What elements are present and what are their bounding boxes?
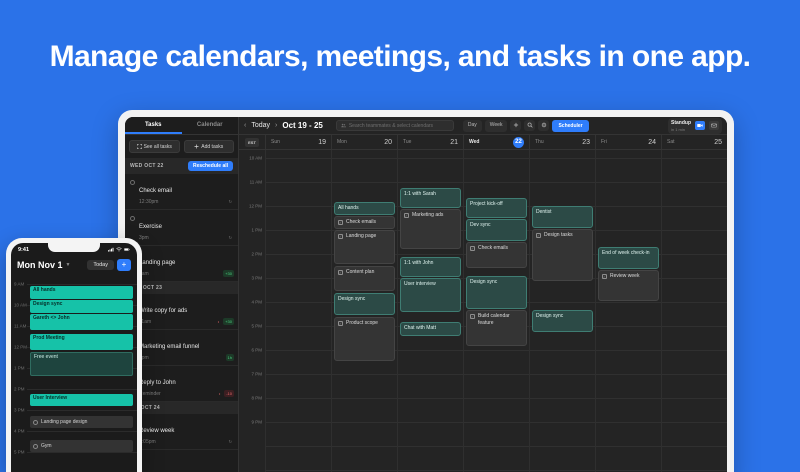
day-name: Tue xyxy=(403,139,411,145)
chevron-down-icon[interactable]: ▼ xyxy=(66,262,71,268)
phone-event[interactable]: Free event xyxy=(30,352,133,376)
status-badge: ↻ xyxy=(227,198,234,205)
phone-header: Mon Nov 1 ▼ Today + xyxy=(11,256,137,276)
event-title: End of week check-in xyxy=(602,250,650,256)
phone-today-button[interactable]: Today xyxy=(87,260,114,270)
day-columns[interactable]: All hands✓Check emails✓Landing page✓Cont… xyxy=(265,150,727,472)
event-checkbox[interactable]: ✓ xyxy=(338,234,343,239)
task-badges: •-10 xyxy=(217,390,234,397)
task-badges: ↻ xyxy=(227,198,234,205)
phone-grid-line xyxy=(27,284,137,285)
time-label: 5 PM xyxy=(251,324,262,329)
calendar-toolbar: ‹ Today › Oct 19 - 25 Search teammates &… xyxy=(239,117,727,135)
task-badges: ↻ xyxy=(227,234,234,241)
event-checkbox[interactable]: ✓ xyxy=(536,233,541,238)
event-title: Design tasks xyxy=(544,232,573,239)
sidebar-tabs: Tasks Calendar xyxy=(125,117,238,135)
event-title: Review week xyxy=(610,273,639,280)
add-tasks-button[interactable]: Add tasks xyxy=(184,140,235,153)
event-title: Content plan xyxy=(346,269,374,276)
time-label: 12 PM xyxy=(249,204,262,209)
event-title: Dev sync xyxy=(470,222,491,228)
day-name: Mon xyxy=(337,139,347,145)
task-title: Marketing email funnel xyxy=(139,344,199,350)
calendar-task[interactable]: ✓Design tasks xyxy=(532,229,593,281)
day-number: 20 xyxy=(384,139,392,146)
status-badge: +30 xyxy=(223,270,234,277)
event-title: Chat with Matt xyxy=(404,325,436,331)
calendar-event[interactable]: Dentist xyxy=(532,206,593,228)
event-checkbox[interactable]: ✓ xyxy=(338,321,343,326)
time-label: 9 PM xyxy=(251,420,262,425)
time-label: 6 PM xyxy=(251,348,262,353)
task-row[interactable]: Check email12:30pm↻ xyxy=(125,174,238,210)
expand-icon xyxy=(137,144,142,149)
status-time: 9:41 xyxy=(18,247,29,253)
time-label: 7 PM xyxy=(251,372,262,377)
phone-event[interactable]: Gareth <> John xyxy=(30,314,133,330)
scheduler-button[interactable]: Scheduler xyxy=(552,120,588,132)
event-title: 1:1 with John xyxy=(404,260,433,266)
phone-event-title: Gareth <> John xyxy=(33,315,70,321)
time-axis: 10 AM11 AM12 PM1 PM2 PM3 PM4 PM5 PM6 PM7… xyxy=(239,150,265,472)
mail-icon xyxy=(711,123,717,128)
event-title: Dentist xyxy=(536,209,552,215)
phone-event-title: Landing page design xyxy=(41,419,87,426)
phone-event-title: User Interview xyxy=(33,395,67,401)
phone-time-label: 3 PM xyxy=(14,408,25,413)
task-title: Review week xyxy=(139,428,174,434)
timezone-cell: EST xyxy=(239,135,265,149)
phone-grid-line xyxy=(27,410,137,411)
day-header-tue[interactable]: Tue21 xyxy=(397,135,463,149)
day-number: 22 xyxy=(513,137,524,148)
standup-title: Standup xyxy=(671,120,691,126)
day-name: Thu xyxy=(535,139,544,145)
phone-task-checkbox[interactable] xyxy=(33,444,38,449)
tab-calendar[interactable]: Calendar xyxy=(182,117,239,134)
calendar-task[interactable]: ✓Product scope xyxy=(334,317,395,361)
task-badges: 1h xyxy=(226,354,234,361)
phone-time-label: 11 AM xyxy=(14,324,26,329)
view-day-button[interactable]: Day xyxy=(463,120,482,132)
task-body: Exercise3pm xyxy=(139,215,233,241)
status-icons xyxy=(108,247,130,252)
time-label: 11 AM xyxy=(250,180,262,185)
event-title: Check emails xyxy=(346,219,376,226)
join-video-button[interactable] xyxy=(695,121,705,130)
day-column[interactable]: Dentist✓Design tasksDesign sync xyxy=(529,150,595,472)
phone-event-title: Free event xyxy=(34,354,58,360)
phone-time-label: 4 PM xyxy=(14,429,25,434)
task-body: Review week1:05pm xyxy=(139,419,233,445)
phone-event[interactable]: All hands xyxy=(30,286,133,299)
task-action-row: See all tasks Add tasks xyxy=(125,135,238,158)
event-checkbox[interactable]: ✓ xyxy=(338,270,343,275)
next-week-button[interactable]: › xyxy=(275,122,277,129)
time-label: 4 PM xyxy=(251,300,262,305)
status-badge: 1h xyxy=(226,354,234,361)
standup-meeting-card[interactable]: Standup in 1 min xyxy=(668,118,722,134)
day-header-thu[interactable]: Thu23 xyxy=(529,135,595,149)
phone-time-label: 1 PM xyxy=(14,366,25,371)
event-title: Project kick-off xyxy=(470,201,503,207)
phone-time-label: 10 AM xyxy=(14,303,27,308)
day-column[interactable]: Project kick-offDev sync✓Check emailsDes… xyxy=(463,150,529,472)
task-group-header: WED OCT 22Reschedule all xyxy=(125,158,238,174)
calendar-task[interactable]: ✓Build calendar feature xyxy=(466,310,527,346)
phone-task-checkbox[interactable] xyxy=(33,420,38,425)
task-body: Marketing email funnel2pm xyxy=(139,335,233,361)
phone-add-button[interactable]: + xyxy=(117,259,131,271)
calendar-event[interactable]: Design sync xyxy=(466,276,527,309)
calendar-event[interactable]: Design sync xyxy=(334,293,395,315)
phone-grid-line xyxy=(27,452,137,453)
event-checkbox[interactable]: ✓ xyxy=(602,274,607,279)
day-header-wed[interactable]: Wed22 xyxy=(463,135,529,149)
day-number: 23 xyxy=(582,139,590,146)
task-badges: +30 xyxy=(223,270,234,277)
day-column[interactable] xyxy=(265,150,331,472)
event-title: Build calendar feature xyxy=(478,313,523,327)
add-tasks-label: Add tasks xyxy=(201,144,223,150)
day-number: 24 xyxy=(648,139,656,146)
tablet-screen: Tasks Calendar See all tasks Add tasks xyxy=(125,117,727,472)
calendar-panel: ‹ Today › Oct 19 - 25 Search teammates &… xyxy=(239,117,727,472)
event-title: Landing page xyxy=(346,233,376,240)
calendar-event[interactable]: Chat with Matt xyxy=(400,322,461,336)
gear-icon xyxy=(541,122,547,128)
day-name: Fri xyxy=(601,139,607,145)
time-label: 2 PM xyxy=(251,252,262,257)
calendar-event[interactable]: User interview xyxy=(400,278,461,312)
time-label: 8 PM xyxy=(251,396,262,401)
status-badge: -10 xyxy=(224,390,234,397)
task-title: Write copy for ads xyxy=(139,308,187,314)
calendar-grid[interactable]: 10 AM11 AM12 PM1 PM2 PM3 PM4 PM5 PM6 PM7… xyxy=(239,150,727,472)
task-title: Reply to John xyxy=(139,380,176,386)
phone-event[interactable]: Design sync xyxy=(30,300,133,313)
plus-icon xyxy=(513,122,519,128)
task-body: Check email12:30pm xyxy=(139,179,233,205)
phone-time-label: 2 PM xyxy=(14,387,25,392)
phone-event-title: Prod Meeting xyxy=(33,335,65,341)
phone-time-label: 9 AM xyxy=(14,282,24,287)
search-placeholder: Search teammates & select calendars xyxy=(349,123,433,129)
search-input[interactable]: Search teammates & select calendars xyxy=(336,120,454,131)
calendar-event[interactable]: Project kick-off xyxy=(466,198,527,218)
task-title: Landing page xyxy=(139,260,175,266)
see-all-tasks-button[interactable]: See all tasks xyxy=(129,140,180,153)
day-column[interactable]: End of week check-in✓Review week xyxy=(595,150,661,472)
timezone-label[interactable]: EST xyxy=(245,138,259,147)
phone-notch xyxy=(48,243,100,252)
status-badge: • xyxy=(216,318,221,325)
calendar-day-headers: ESTSun19Mon20Tue21Wed22Thu23Fri24Sat25 xyxy=(239,135,727,150)
phone-event-title: Gym xyxy=(41,443,52,450)
event-title: All hands xyxy=(338,205,359,211)
phone-date-label[interactable]: Mon Nov 1 xyxy=(17,260,63,270)
standup-subtitle: in 1 min xyxy=(671,127,691,132)
settings-button[interactable] xyxy=(538,120,549,131)
event-checkbox[interactable]: ✓ xyxy=(470,314,475,319)
phone-event[interactable]: User Interview xyxy=(30,394,133,406)
day-number: 25 xyxy=(714,139,722,146)
see-all-tasks-label: See all tasks xyxy=(144,144,172,150)
status-badge: ↻ xyxy=(227,234,234,241)
phone-time-label: 5 PM xyxy=(14,450,25,455)
phone-device: 9:41 Mon Nov 1 ▼ xyxy=(6,238,142,472)
event-title: Product scope xyxy=(346,320,378,327)
video-icon xyxy=(697,123,703,128)
task-body: Landing page4am xyxy=(139,251,233,277)
event-checkbox[interactable]: ✓ xyxy=(338,220,343,225)
day-number: 19 xyxy=(318,139,326,146)
status-badge: ↻ xyxy=(227,438,234,445)
calendar-event[interactable]: 1:1 with Sarah xyxy=(400,188,461,208)
prev-week-button[interactable]: ‹ xyxy=(244,122,246,129)
phone-grid-line xyxy=(27,389,137,390)
task-badges: •+30 xyxy=(216,318,234,325)
view-week-button[interactable]: Week xyxy=(485,120,508,132)
phone-time-label: 12 PM xyxy=(14,345,27,350)
email-button[interactable] xyxy=(709,121,719,130)
day-header-mon[interactable]: Mon20 xyxy=(331,135,397,149)
event-title: 1:1 with Sarah xyxy=(404,191,436,197)
time-label: 1 PM xyxy=(251,228,262,233)
signal-icon xyxy=(108,247,114,252)
status-badge: • xyxy=(217,390,222,397)
phone-grid-line xyxy=(27,431,137,432)
battery-icon xyxy=(124,247,130,252)
event-title: Check emails xyxy=(478,245,508,252)
event-title: Marketing ads xyxy=(412,212,443,219)
calendar-search-button[interactable] xyxy=(524,120,535,131)
status-badge: +30 xyxy=(223,318,234,325)
standup-text: Standup in 1 min xyxy=(671,120,691,132)
task-time: 12:30pm xyxy=(139,199,233,205)
calendar-task[interactable]: ✓Landing page xyxy=(334,230,395,264)
event-title: Design sync xyxy=(338,296,365,302)
time-label: 10 AM xyxy=(249,156,262,161)
plus-icon xyxy=(194,144,199,149)
calendar-task[interactable]: ✓Check emails xyxy=(466,242,527,268)
search-icon xyxy=(527,122,533,128)
day-name: Sun xyxy=(271,139,280,145)
phone-task[interactable]: Landing page design xyxy=(30,416,133,428)
day-column[interactable]: 1:1 with Sarah✓Marketing ads1:1 with Joh… xyxy=(397,150,463,472)
calendar-task[interactable]: ✓Marketing ads xyxy=(400,209,461,249)
day-column[interactable] xyxy=(661,150,727,472)
task-checkbox[interactable] xyxy=(130,216,135,221)
reschedule-all-button[interactable]: Reschedule all xyxy=(188,161,233,171)
task-title: Check email xyxy=(139,188,172,194)
task-time: 1:05pm xyxy=(139,439,233,445)
event-checkbox[interactable]: ✓ xyxy=(470,246,475,251)
phone-screen: 9:41 Mon Nov 1 ▼ xyxy=(11,243,137,472)
calendar-task[interactable]: ✓Review week xyxy=(598,270,659,301)
calendar-task[interactable]: ✓Check emails xyxy=(334,216,395,229)
day-column[interactable]: All hands✓Check emails✓Landing page✓Cont… xyxy=(331,150,397,472)
view-switcher: Day Week xyxy=(463,120,589,132)
task-checkbox[interactable] xyxy=(130,180,135,185)
add-event-button[interactable] xyxy=(510,120,521,131)
phone-calendar-grid[interactable]: 9 AM10 AM11 AM12 PM1 PM2 PM3 PM4 PM5 PMA… xyxy=(11,276,137,468)
calendar-task[interactable]: ✓Content plan xyxy=(334,266,395,291)
task-group-date: WED OCT 22 xyxy=(130,163,164,169)
date-range-label: Oct 19 - 25 xyxy=(282,121,322,130)
calendar-event[interactable]: All hands xyxy=(334,202,395,215)
tab-tasks[interactable]: Tasks xyxy=(125,117,182,134)
day-name: Sat xyxy=(667,139,675,145)
day-header-fri[interactable]: Fri24 xyxy=(595,135,661,149)
event-title: Design sync xyxy=(470,279,497,285)
day-number: 21 xyxy=(450,139,458,146)
task-title: Exercise xyxy=(139,224,162,230)
day-header-sun[interactable]: Sun19 xyxy=(265,135,331,149)
tasks-sidebar: Tasks Calendar See all tasks Add tasks xyxy=(125,117,239,472)
time-label: 3 PM xyxy=(251,276,262,281)
task-row[interactable]: Exercise3pm↻ xyxy=(125,210,238,246)
task-time: 2pm xyxy=(139,355,233,361)
phone-event[interactable]: Prod Meeting xyxy=(30,334,133,350)
task-time: 4am xyxy=(139,271,233,277)
event-title: Design sync xyxy=(536,313,563,319)
day-name: Wed xyxy=(469,139,479,145)
task-time: 3pm xyxy=(139,235,233,241)
page-title: Manage calendars, meetings, and tasks in… xyxy=(0,40,800,74)
event-checkbox[interactable]: ✓ xyxy=(404,213,409,218)
event-title: User interview xyxy=(404,281,436,287)
phone-task[interactable]: Gym xyxy=(30,440,133,452)
tablet-device: Tasks Calendar See all tasks Add tasks xyxy=(118,110,734,472)
calendar-event[interactable]: 1:1 with John xyxy=(400,257,461,277)
calendar-event[interactable]: Design sync xyxy=(532,310,593,332)
day-header-sat[interactable]: Sat25 xyxy=(661,135,727,149)
people-icon xyxy=(341,123,346,128)
task-badges: ↻ xyxy=(227,438,234,445)
calendar-event[interactable]: Dev sync xyxy=(466,219,527,241)
wifi-icon xyxy=(116,247,122,252)
today-button[interactable]: Today xyxy=(251,122,270,129)
phone-event-title: Design sync xyxy=(33,301,62,307)
calendar-event[interactable]: End of week check-in xyxy=(598,247,659,269)
phone-event-title: All hands xyxy=(33,287,56,293)
